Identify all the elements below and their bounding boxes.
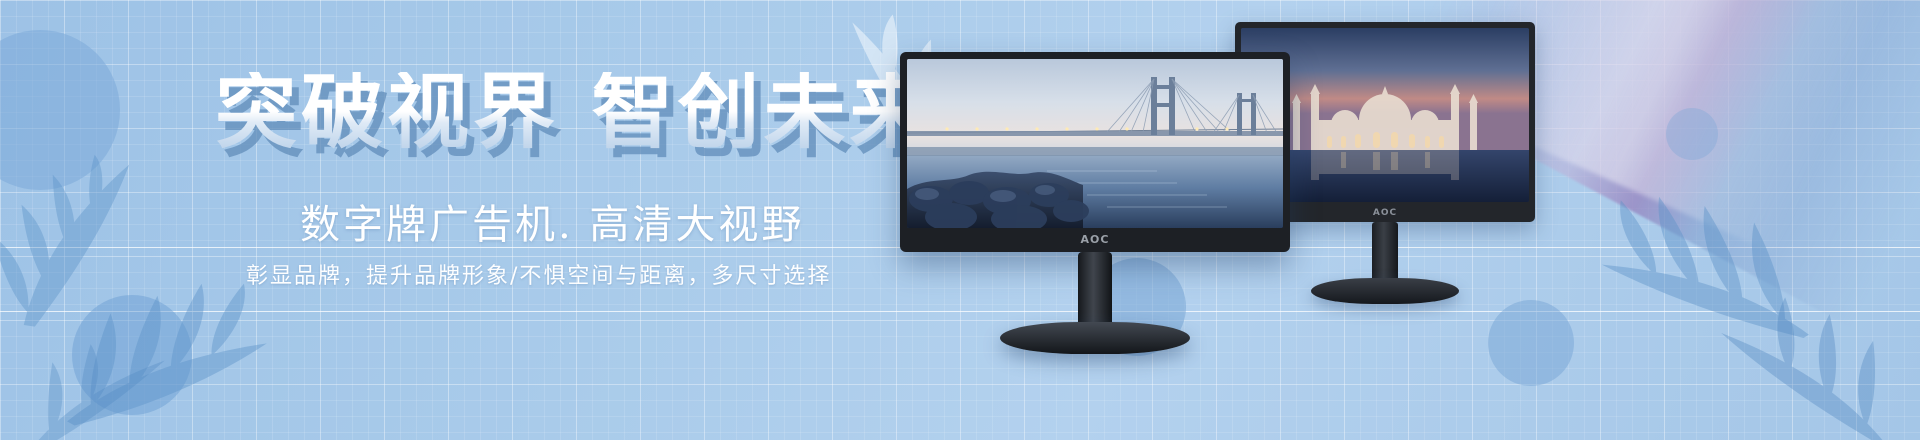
- copy-block: 突破视界 智创未来 数字牌广告机. 高清大视野 彰显品牌，提升品牌形象/不惧空间…: [0, 0, 900, 440]
- tagline: 彰显品牌，提升品牌形象/不惧空间与距离，多尺寸选择: [246, 258, 831, 290]
- promo-banner: 突破视界 智创未来 数字牌广告机. 高清大视野 彰显品牌，提升品牌形象/不惧空间…: [0, 0, 1920, 440]
- page-title: 突破视界 智创未来: [215, 72, 936, 154]
- back-monitor-stand-base: [1311, 278, 1459, 304]
- front-monitor-stand-neck: [1078, 252, 1112, 330]
- front-monitor: AOC: [900, 52, 1290, 252]
- back-monitor-logo: AOC: [1373, 208, 1397, 218]
- front-monitor-bezel: AOC: [900, 52, 1290, 252]
- front-monitor-stand-base: [1000, 322, 1190, 354]
- subtitle: 数字牌广告机. 高清大视野: [300, 192, 804, 250]
- product-group: AOC: [880, 0, 1920, 440]
- front-monitor-screen: [907, 59, 1283, 228]
- front-monitor-logo: AOC: [1081, 233, 1110, 246]
- back-monitor-stand-neck: [1372, 222, 1398, 284]
